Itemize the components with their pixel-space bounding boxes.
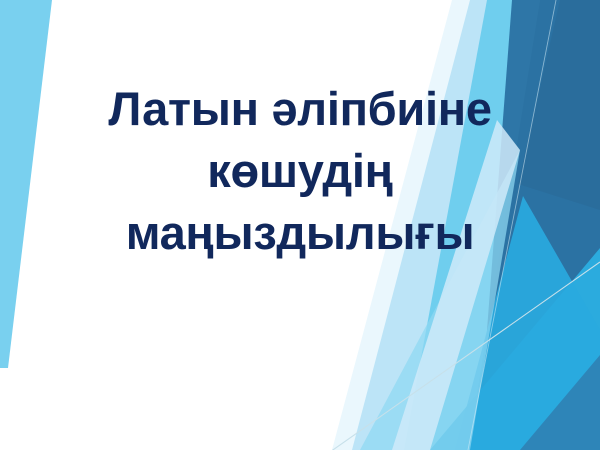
right-accent-cluster — [332, 0, 600, 450]
left-accent-band — [0, 0, 52, 368]
presentation-slide: Латын әліпбиіне көшудің маңыздылығы — [0, 0, 600, 450]
slide-decoration — [0, 0, 600, 450]
